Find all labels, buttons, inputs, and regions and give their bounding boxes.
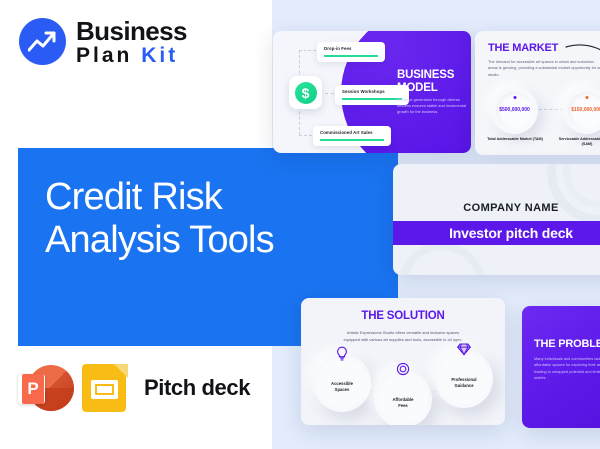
business-model-item-2-label: Session Workshops: [342, 89, 402, 94]
market-metric-1: $500,000,000: [491, 87, 538, 134]
slide-company-title[interactable]: COMPANY NAME Investor pitch deck: [393, 164, 600, 275]
solution-node-1: Accessible Spaces: [313, 354, 371, 412]
business-model-item-3: Commissioned Art Sales: [313, 126, 391, 146]
brand-name-line2: Plan Kit: [76, 45, 187, 66]
trending-up-circle-icon: [19, 18, 66, 65]
brand-plan-word: Plan: [76, 44, 132, 67]
business-model-item-1: Drop-in Fees: [317, 42, 385, 62]
lightbulb-icon: [336, 346, 349, 367]
decorative-ring-3: [399, 242, 485, 275]
google-slides-icon: [82, 362, 128, 414]
solution-node-3: Professional Guidance: [435, 350, 493, 408]
market-metric-1-value: $500,000,000: [491, 107, 538, 113]
solution-node-2-label: Affordable Fees: [374, 397, 432, 410]
brand-kit-word: Kit: [141, 44, 178, 67]
business-model-item-1-label: Drop-in Fees: [324, 46, 378, 51]
dollar-symbol: $: [295, 82, 317, 104]
solution-node-1-label: Accessible Spaces: [313, 381, 371, 394]
slide-business-model[interactable]: $ Drop-in Fees Session Workshops Commiss…: [273, 31, 471, 153]
business-model-title: BUSINESS MODEL: [397, 69, 471, 94]
dollar-coin-icon: $: [289, 76, 322, 109]
investor-pitch-banner-label: Investor pitch deck: [449, 225, 573, 241]
format-badges: P Pitch deck: [18, 362, 250, 414]
powerpoint-icon: P: [18, 362, 70, 414]
target-icon: [396, 362, 410, 381]
problem-description: Many individuals and communities lack ac…: [534, 356, 600, 381]
poster-canvas: Business Plan Kit Credit Risk Analysis T…: [0, 0, 600, 449]
powerpoint-letter: P: [22, 374, 44, 404]
market-metric-1-caption: Total Addressable Market (TAM): [483, 137, 547, 142]
business-model-title-line1: BUSINESS: [397, 69, 471, 82]
company-name: COMPANY NAME: [393, 202, 600, 214]
business-model-item-3-label: Commissioned Art Sales: [320, 130, 384, 135]
market-description: The demand for accessible art spaces in …: [488, 59, 600, 78]
brand-logo: Business Plan Kit: [19, 16, 187, 66]
solution-node-3-label: Professional Guidance: [435, 377, 493, 390]
investor-pitch-banner: Investor pitch deck: [393, 221, 600, 245]
page-title-line2: Analysis Tools: [45, 219, 375, 262]
slide-the-problem[interactable]: THE PROBLEM Many individuals and communi…: [522, 306, 600, 428]
solution-node-2: Affordable Fees: [374, 370, 432, 425]
brand-name-line1: Business: [76, 18, 187, 44]
market-metric-2: $150,000,000: [563, 87, 600, 134]
market-metric-2-caption: Serviceable Addressable Market (SAM): [555, 137, 600, 148]
business-model-title-line2: MODEL: [397, 82, 471, 95]
page-title-line1: Credit Risk: [45, 176, 375, 219]
business-model-description: Revenue generation through diverse strea…: [397, 97, 469, 115]
slide-the-solution[interactable]: THE SOLUTION Artistic Expressions Studio…: [301, 298, 505, 425]
problem-title: THE PROBLEM: [534, 338, 600, 350]
solution-title: THE SOLUTION: [301, 310, 505, 322]
slide-the-market[interactable]: THE MARKET The demand for accessible art…: [475, 31, 600, 155]
diamond-icon: [457, 342, 471, 361]
market-metric-2-value: $150,000,000: [563, 107, 600, 113]
market-title: THE MARKET: [488, 42, 558, 54]
page-title: Credit Risk Analysis Tools: [45, 176, 375, 262]
solution-description: Artistic Expressions Studio offers versa…: [339, 330, 467, 343]
format-label: Pitch deck: [144, 375, 250, 401]
